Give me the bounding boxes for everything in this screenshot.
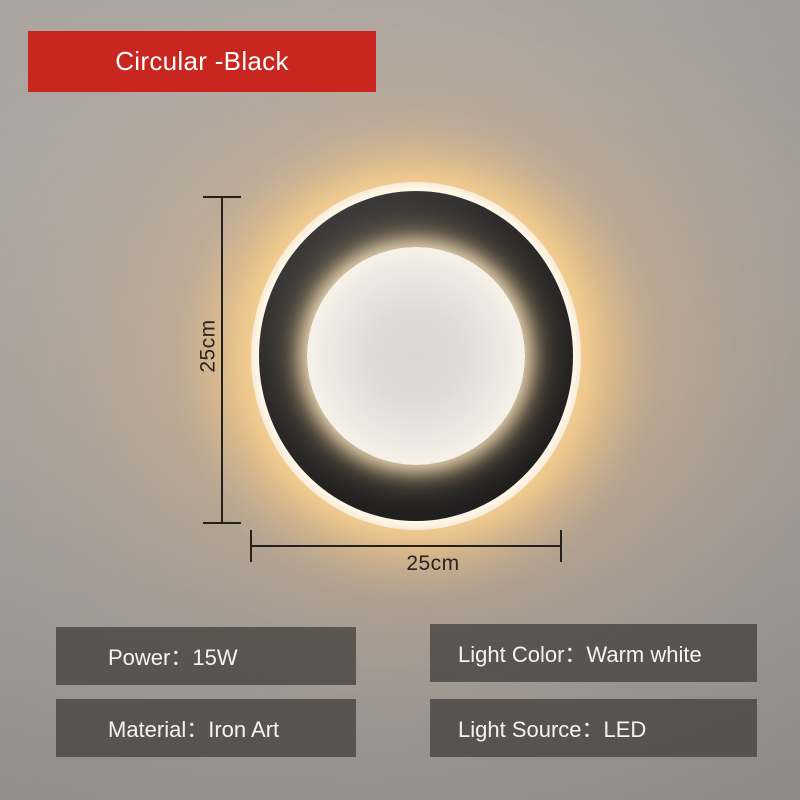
spec-light-color-label: Light Color：Warm white xyxy=(430,637,702,669)
spec-box-light-source: Light Source：LED xyxy=(430,699,757,757)
width-dimension-line xyxy=(251,545,562,547)
spec-material-label: Material：Iron Art xyxy=(56,712,279,744)
height-dimension-cap-top xyxy=(203,196,241,198)
product-photo-scene: 25cm 25cm Circular -Black Power：15W Mate… xyxy=(0,0,800,800)
lamp-black-body-ring xyxy=(259,191,573,521)
variant-title-text: Circular -Black xyxy=(115,46,289,77)
height-dimension-line xyxy=(221,197,223,524)
width-dimension-label: 25cm xyxy=(378,552,488,576)
circular-wall-lamp xyxy=(251,182,581,530)
spec-power-label: Power：15W xyxy=(56,640,238,672)
spec-box-light-color: Light Color：Warm white xyxy=(430,624,757,682)
variant-title-banner: Circular -Black xyxy=(28,31,376,92)
lamp-outer-rim xyxy=(251,182,581,530)
height-dimension-cap-bottom xyxy=(203,522,241,524)
spec-box-power: Power：15W xyxy=(56,627,356,685)
height-dimension-label: 25cm xyxy=(197,319,221,372)
width-dimension-cap-right xyxy=(560,530,562,562)
width-dimension-cap-left xyxy=(250,530,252,562)
warm-glow-inner xyxy=(181,121,651,591)
spec-light-source-label: Light Source：LED xyxy=(430,712,646,744)
spec-box-material: Material：Iron Art xyxy=(56,699,356,757)
lamp-inner-diffuser xyxy=(307,247,525,465)
